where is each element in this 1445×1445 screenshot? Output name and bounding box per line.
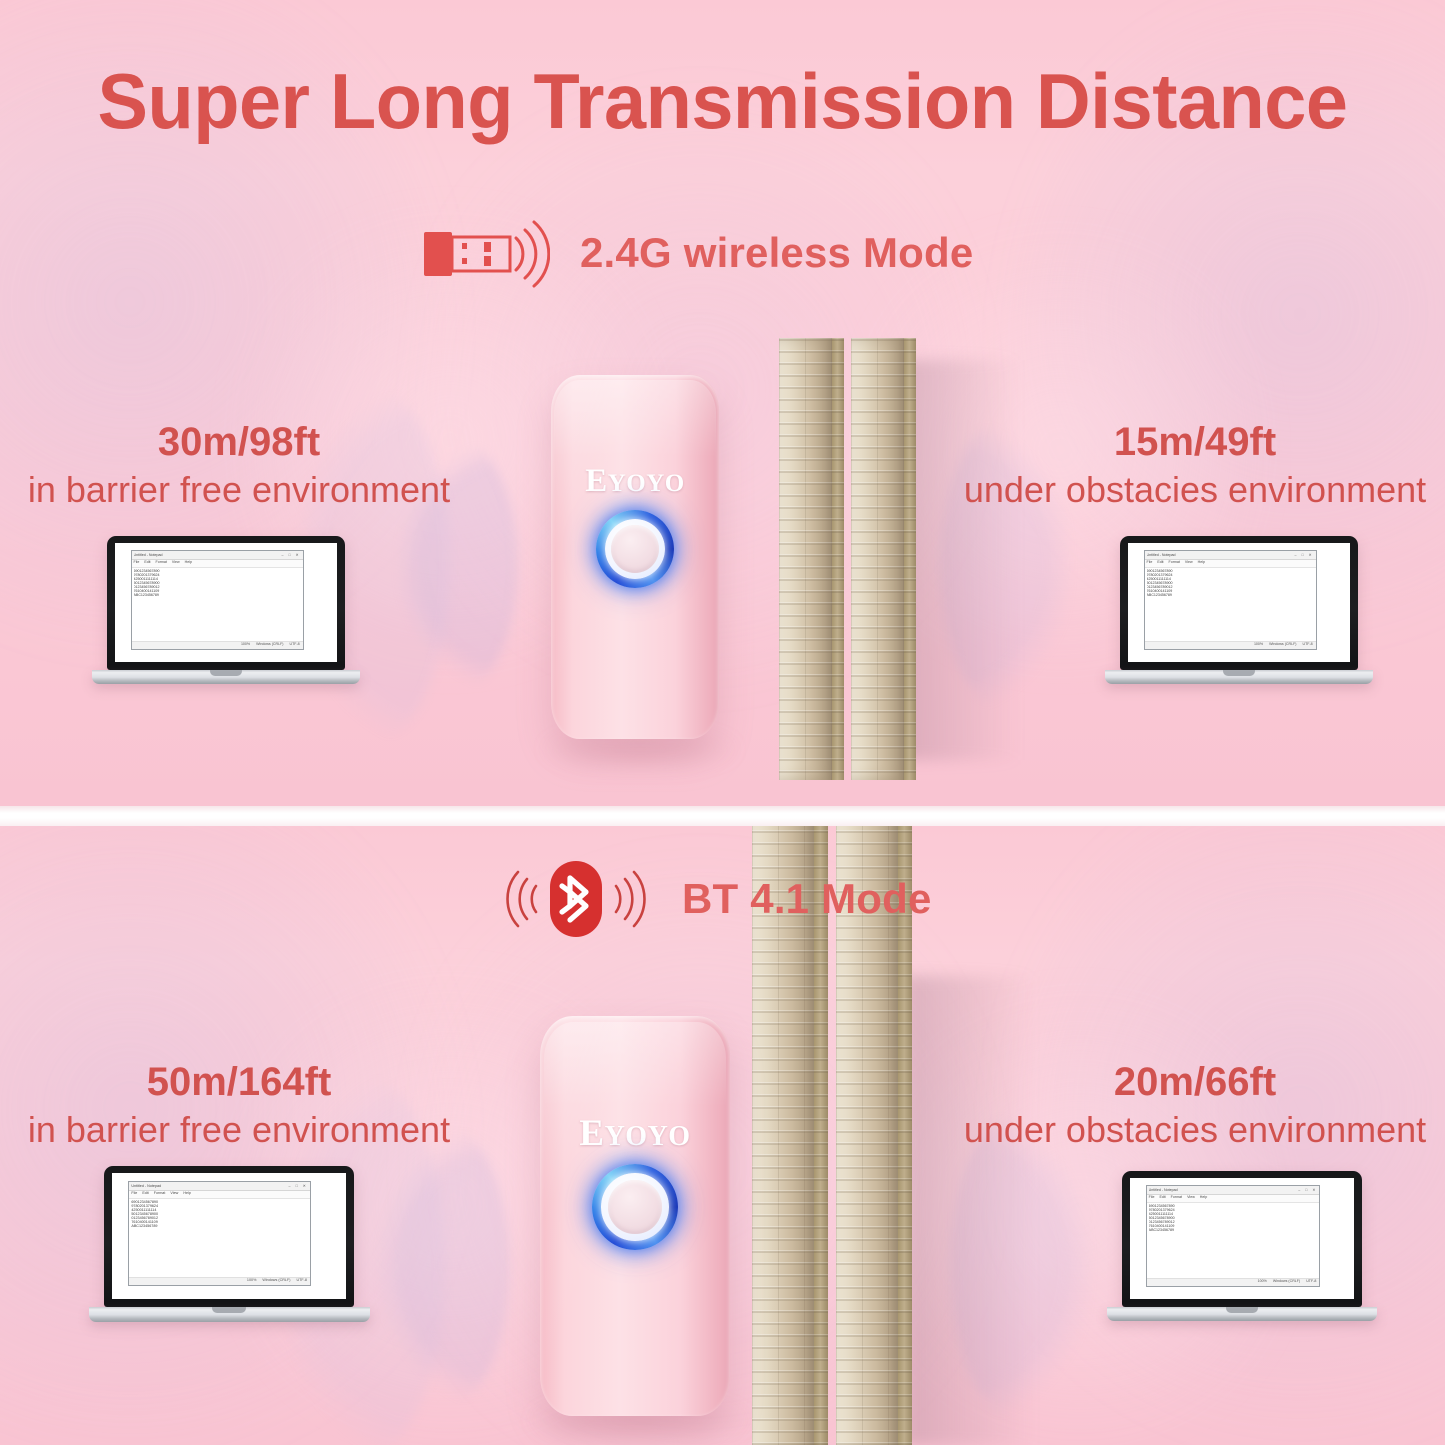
- page-title: Super Long Transmission Distance: [22, 62, 1424, 140]
- window-title-bar: Untitled - Notepad – □ ✕: [132, 551, 303, 560]
- scan-button[interactable]: [596, 510, 674, 588]
- close-icon[interactable]: ✕: [1312, 1188, 1317, 1192]
- laptop-screen: Untitled - Notepad – □ ✕ File Edit Forma…: [115, 543, 337, 662]
- notepad-text-area[interactable]: 6901234567890 9780201379624 425001111111…: [129, 1199, 310, 1278]
- status-charset: UTF-8: [296, 1278, 306, 1285]
- minimize-icon[interactable]: –: [282, 553, 286, 557]
- infographic-canvas: 2.4G wireless Mode 30m/98ft in barrier f…: [0, 0, 1445, 1445]
- notepad-window[interactable]: Untitled - Notepad – □ ✕ File Edit Forma…: [1146, 1185, 1321, 1287]
- menu-item-format[interactable]: Format: [1171, 1195, 1182, 1202]
- scanned-line: ABC123456789: [131, 1224, 308, 1228]
- window-controls[interactable]: – □ ✕: [1298, 1188, 1317, 1192]
- menu-item-help[interactable]: Help: [183, 1191, 191, 1198]
- barcode-scanner-device: EYOYO: [540, 1016, 730, 1416]
- environment-label: under obstacies environment: [950, 1107, 1440, 1154]
- laptop-screen: Untitled - Notepad – □ ✕ File Edit Forma…: [112, 1173, 346, 1299]
- notepad-window[interactable]: Untitled - Notepad – □ ✕ File Edit Forma…: [1144, 550, 1317, 650]
- barcode-scanner-device: EYOYO: [551, 375, 719, 739]
- window-title: Untitled - Notepad: [1147, 553, 1176, 557]
- status-zoom: 100%: [1258, 1279, 1267, 1286]
- close-icon[interactable]: ✕: [296, 553, 301, 557]
- wall-face: [779, 338, 832, 780]
- menu-item-view[interactable]: View: [1187, 1195, 1195, 1202]
- logo-rest: YOYO: [608, 470, 685, 497]
- maximize-icon[interactable]: □: [289, 553, 293, 557]
- scanned-line: ABC123456789: [134, 593, 301, 597]
- laptop-left-bt: Untitled - Notepad – □ ✕ File Edit Forma…: [104, 1166, 354, 1324]
- laptop-lid: Untitled - Notepad – □ ✕ File Edit Forma…: [107, 536, 345, 670]
- wall-edge: [904, 338, 916, 780]
- window-title-bar: Untitled - Notepad – □ ✕: [1145, 551, 1316, 560]
- laptop-lid: Untitled - Notepad – □ ✕ File Edit Forma…: [1122, 1171, 1362, 1307]
- menu-item-format[interactable]: Format: [1169, 560, 1180, 567]
- bluetooth-icon: [500, 856, 652, 942]
- laptop-base: [89, 1307, 370, 1322]
- menu-item-help[interactable]: Help: [1198, 560, 1205, 567]
- maximize-icon[interactable]: □: [296, 1184, 300, 1188]
- notepad-window[interactable]: Untitled - Notepad – □ ✕ File Edit Forma…: [128, 1181, 311, 1287]
- menu-item-format[interactable]: Format: [154, 1191, 166, 1198]
- environment-label: under obstacies environment: [950, 467, 1440, 514]
- close-icon[interactable]: ✕: [303, 1184, 308, 1188]
- window-controls[interactable]: – □ ✕: [289, 1184, 308, 1188]
- distance-value: 15m/49ft: [950, 418, 1440, 467]
- notepad-text-area[interactable]: 6901234567890 9780201379624 425001111111…: [1147, 1203, 1320, 1278]
- distance-value: 50m/164ft: [0, 1058, 478, 1107]
- notepad-text-area[interactable]: 6901234567890 9780201379624 425001111111…: [132, 568, 303, 641]
- caption-left-bt: 50m/164ft in barrier free environment: [0, 1058, 478, 1154]
- mode-header-24g: 2.4G wireless Mode: [422, 212, 973, 294]
- status-bar: 100% Windows (CRLF) UTF-8: [129, 1277, 310, 1285]
- status-charset: UTF-8: [1303, 642, 1313, 649]
- laptop-lid: Untitled - Notepad – □ ✕ File Edit Forma…: [1120, 536, 1358, 670]
- maximize-icon[interactable]: □: [1302, 553, 1306, 557]
- scan-button[interactable]: [592, 1164, 678, 1250]
- caption-right-bt: 20m/66ft under obstacies environment: [950, 1058, 1440, 1154]
- laptop-lid: Untitled - Notepad – □ ✕ File Edit Forma…: [104, 1166, 354, 1307]
- status-bar: 100% Windows (CRLF) UTF-8: [1145, 641, 1316, 649]
- minimize-icon[interactable]: –: [289, 1184, 293, 1188]
- menu-item-view[interactable]: View: [172, 560, 180, 567]
- mode-label: 2.4G wireless Mode: [580, 229, 973, 277]
- status-encoding-eol: Windows (CRLF): [1273, 1279, 1300, 1286]
- laptop-screen: Untitled - Notepad – □ ✕ File Edit Forma…: [1130, 1178, 1354, 1299]
- mode-header-bt: BT 4.1 Mode: [500, 856, 932, 942]
- minimize-icon[interactable]: –: [1295, 553, 1299, 557]
- section-divider: [0, 806, 1445, 826]
- logo-initial: E: [579, 1112, 604, 1153]
- status-encoding-eol: Windows (CRLF): [1269, 642, 1296, 649]
- menu-item-file[interactable]: File: [1149, 1195, 1155, 1202]
- menu-item-edit[interactable]: Edit: [1159, 1195, 1165, 1202]
- menu-item-view[interactable]: View: [170, 1191, 178, 1198]
- status-charset: UTF-8: [290, 642, 300, 649]
- scanned-line: ABC123456789: [1147, 593, 1314, 597]
- window-controls[interactable]: – □ ✕: [1295, 553, 1314, 557]
- status-zoom: 100%: [1254, 642, 1263, 649]
- usb-dongle-icon: [422, 212, 550, 294]
- laptop-right-bt: Untitled - Notepad – □ ✕ File Edit Forma…: [1122, 1171, 1362, 1323]
- minimize-icon[interactable]: –: [1298, 1188, 1302, 1192]
- status-zoom: 100%: [247, 1278, 256, 1285]
- laptop-left-24g: Untitled - Notepad – □ ✕ File Edit Forma…: [107, 536, 345, 686]
- laptop-screen: Untitled - Notepad – □ ✕ File Edit Forma…: [1128, 543, 1350, 662]
- menu-bar[interactable]: File Edit Format View Help: [129, 1191, 310, 1199]
- maximize-icon[interactable]: □: [1305, 1188, 1309, 1192]
- notepad-text-area[interactable]: 6901234567890 9780201379624 425001111111…: [1145, 568, 1316, 641]
- menu-item-view[interactable]: View: [1185, 560, 1193, 567]
- wall-shadow: [905, 976, 1035, 1445]
- status-bar: 100% Windows (CRLF) UTF-8: [1147, 1278, 1320, 1286]
- brick-wall: [851, 338, 904, 780]
- status-encoding-eol: Windows (CRLF): [262, 1278, 290, 1285]
- laptop-base: [92, 670, 360, 684]
- status-zoom: 100%: [241, 642, 250, 649]
- brick-wall: [779, 338, 832, 780]
- menu-item-file[interactable]: File: [131, 1191, 137, 1198]
- menu-item-help[interactable]: Help: [185, 560, 192, 567]
- wall-face: [851, 338, 904, 780]
- status-bar: 100% Windows (CRLF) UTF-8: [132, 641, 303, 649]
- window-title-bar: Untitled - Notepad – □ ✕: [129, 1182, 310, 1191]
- close-icon[interactable]: ✕: [1309, 553, 1314, 557]
- laptop-right-24g: Untitled - Notepad – □ ✕ File Edit Forma…: [1120, 536, 1358, 686]
- status-charset: UTF-8: [1306, 1279, 1316, 1286]
- button-face: [611, 525, 659, 573]
- distance-value: 30m/98ft: [0, 418, 478, 467]
- section-bt-41: BT 4.1 Mode 50m/164ft in barrier free en…: [0, 826, 1445, 1445]
- window-title-bar: Untitled - Notepad – □ ✕: [1147, 1186, 1320, 1195]
- distance-value: 20m/66ft: [950, 1058, 1440, 1107]
- caption-left-24g: 30m/98ft in barrier free environment: [0, 418, 478, 514]
- window-title: Untitled - Notepad: [131, 1184, 161, 1188]
- menu-item-format[interactable]: Format: [156, 560, 167, 567]
- menu-item-help[interactable]: Help: [1200, 1195, 1207, 1202]
- environment-label: in barrier free environment: [0, 467, 478, 514]
- menu-item-file[interactable]: File: [1147, 560, 1153, 567]
- button-face: [608, 1180, 661, 1233]
- wall-edge: [832, 338, 844, 780]
- menu-bar[interactable]: File Edit Format View Help: [1145, 560, 1316, 568]
- window-title: Untitled - Notepad: [1149, 1188, 1178, 1192]
- menu-bar[interactable]: File Edit Format View Help: [1147, 1195, 1320, 1203]
- menu-item-edit[interactable]: Edit: [144, 560, 150, 567]
- menu-item-file[interactable]: File: [134, 560, 140, 567]
- window-controls[interactable]: – □ ✕: [282, 553, 301, 557]
- mode-label: BT 4.1 Mode: [682, 875, 932, 923]
- scanned-line: ABC123456789: [1149, 1228, 1318, 1232]
- logo-initial: E: [585, 463, 608, 499]
- status-encoding-eol: Windows (CRLF): [256, 642, 283, 649]
- menu-item-edit[interactable]: Edit: [1157, 560, 1163, 567]
- notepad-window[interactable]: Untitled - Notepad – □ ✕ File Edit Forma…: [131, 550, 304, 650]
- laptop-base: [1107, 1307, 1377, 1321]
- window-title: Untitled - Notepad: [134, 553, 163, 557]
- laptop-base: [1105, 670, 1373, 684]
- caption-right-24g: 15m/49ft under obstacies environment: [950, 418, 1440, 514]
- menu-item-edit[interactable]: Edit: [142, 1191, 148, 1198]
- environment-label: in barrier free environment: [0, 1107, 478, 1154]
- menu-bar[interactable]: File Edit Format View Help: [132, 560, 303, 568]
